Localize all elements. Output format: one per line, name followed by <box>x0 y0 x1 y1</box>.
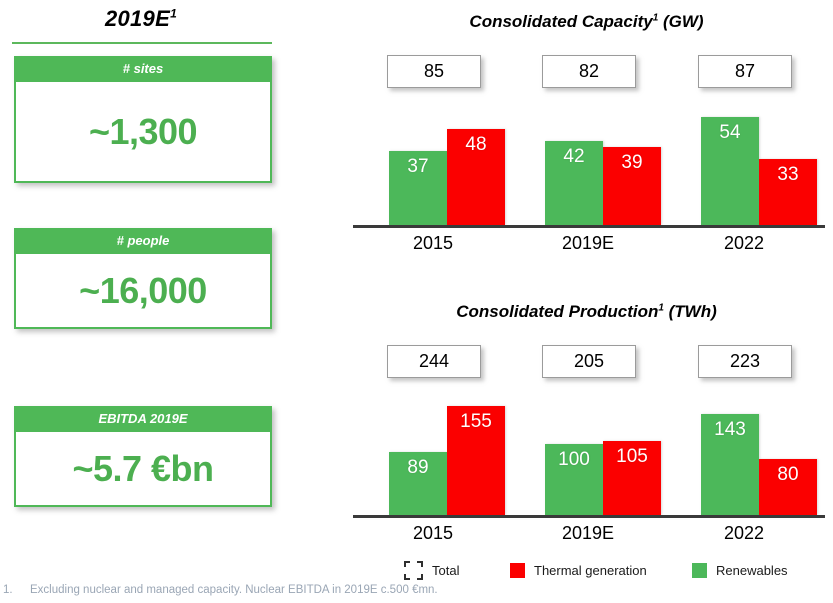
green-square-icon <box>692 563 707 578</box>
x-axis-label: 2019E <box>533 523 643 544</box>
kpi-card-sites-body: ~1,300 <box>14 82 272 183</box>
bar-value-label: 143 <box>701 419 759 441</box>
footnote: 1. Excluding nuclear and managed capacit… <box>0 584 833 603</box>
kpi-card-people: # people ~16,000 <box>14 228 272 329</box>
dashed-box-icon <box>404 561 423 580</box>
bar-value-label: 42 <box>545 146 603 168</box>
kpi-card-sites: # sites ~1,300 <box>14 56 272 183</box>
chart-production-title: Consolidated Production1 (TWh) <box>340 302 833 322</box>
page-title-superscript: 1 <box>170 7 177 21</box>
footnote-text: Excluding nuclear and managed capacity. … <box>30 584 438 596</box>
bar-value-label: 39 <box>603 152 661 174</box>
chart-production-axis <box>353 515 825 518</box>
page-title-text: 2019E <box>105 6 170 31</box>
title-divider <box>12 42 272 44</box>
bar-renewables: 37 <box>389 151 447 225</box>
chart-capacity-title-text: Consolidated Capacity <box>469 12 652 31</box>
kpi-card-people-body: ~16,000 <box>14 254 272 329</box>
chart-capacity-plot: 37 48 42 39 54 33 <box>353 105 825 225</box>
x-axis-label: 2022 <box>689 233 799 254</box>
bar-thermal: 80 <box>759 459 817 515</box>
legend-item-renewables: Renewables <box>692 560 788 580</box>
chart-capacity-totals: 85 82 87 <box>340 55 833 89</box>
chart-capacity-title: Consolidated Capacity1 (GW) <box>340 12 833 32</box>
x-axis-label: 2022 <box>689 523 799 544</box>
chart-capacity-axis <box>353 225 825 228</box>
bar-value-label: 37 <box>389 156 447 178</box>
chart-production-title-text: Consolidated Production <box>456 302 658 321</box>
bar-value-label: 89 <box>389 457 447 479</box>
bar-thermal: 33 <box>759 159 817 225</box>
kpi-panel: 2019E1 # sites ~1,300 # people ~16,000 E… <box>0 0 300 603</box>
bar-renewables: 143 <box>701 414 759 515</box>
chart-consolidated-production: Consolidated Production1 (TWh) 244 205 2… <box>340 290 833 550</box>
chart-consolidated-capacity: Consolidated Capacity1 (GW) 85 82 87 37 … <box>340 0 833 270</box>
bar-value-label: 80 <box>759 464 817 486</box>
footnote-marker: 1. <box>3 584 13 596</box>
chart-production-xlabels: 2015 2019E 2022 <box>340 523 833 549</box>
x-axis-label: 2015 <box>378 233 488 254</box>
kpi-card-ebitda: EBITDA 2019E ~5.7 €bn <box>14 406 272 507</box>
kpi-card-sites-header: # sites <box>14 56 272 82</box>
bar-value-label: 105 <box>603 446 661 468</box>
chart-production-totals: 244 205 223 <box>340 345 833 379</box>
legend-item-thermal-generation: Thermal generation <box>510 560 647 580</box>
total-box: 82 <box>542 55 636 88</box>
bar-value-label: 33 <box>759 164 817 186</box>
bar-thermal: 39 <box>603 147 661 225</box>
chart-production-plot: 89 155 100 105 143 80 <box>353 395 825 515</box>
chart-capacity-xlabels: 2015 2019E 2022 <box>340 233 833 259</box>
legend-label: Thermal generation <box>534 563 647 578</box>
legend-label: Renewables <box>716 563 788 578</box>
chart-legend: Total Thermal generation Renewables <box>380 560 833 582</box>
legend-label: Total <box>432 563 459 578</box>
kpi-card-ebitda-body: ~5.7 €bn <box>14 432 272 507</box>
kpi-card-people-header: # people <box>14 228 272 254</box>
bar-value-label: 100 <box>545 449 603 471</box>
bar-value-label: 48 <box>447 134 505 156</box>
total-box: 223 <box>698 345 792 378</box>
bar-value-label: 155 <box>447 411 505 433</box>
kpi-card-ebitda-header: EBITDA 2019E <box>14 406 272 432</box>
bar-thermal: 48 <box>447 129 505 225</box>
x-axis-label: 2019E <box>533 233 643 254</box>
bar-renewables: 89 <box>389 452 447 515</box>
chart-production-title-unit: (TWh) <box>664 302 717 321</box>
total-box: 244 <box>387 345 481 378</box>
total-box: 85 <box>387 55 481 88</box>
bar-renewables: 100 <box>545 444 603 515</box>
bar-thermal: 155 <box>447 406 505 515</box>
kpi-card-people-value: ~16,000 <box>79 270 207 312</box>
red-square-icon <box>510 563 525 578</box>
total-box: 87 <box>698 55 792 88</box>
x-axis-label: 2015 <box>378 523 488 544</box>
legend-item-total: Total <box>404 560 459 580</box>
bar-value-label: 54 <box>701 122 759 144</box>
bar-renewables: 54 <box>701 117 759 225</box>
bar-thermal: 105 <box>603 441 661 515</box>
kpi-card-sites-value: ~1,300 <box>89 111 197 153</box>
page-title: 2019E1 <box>0 6 282 32</box>
chart-capacity-title-unit: (GW) <box>658 12 703 31</box>
bar-renewables: 42 <box>545 141 603 225</box>
total-box: 205 <box>542 345 636 378</box>
kpi-card-ebitda-value: ~5.7 €bn <box>72 448 213 490</box>
